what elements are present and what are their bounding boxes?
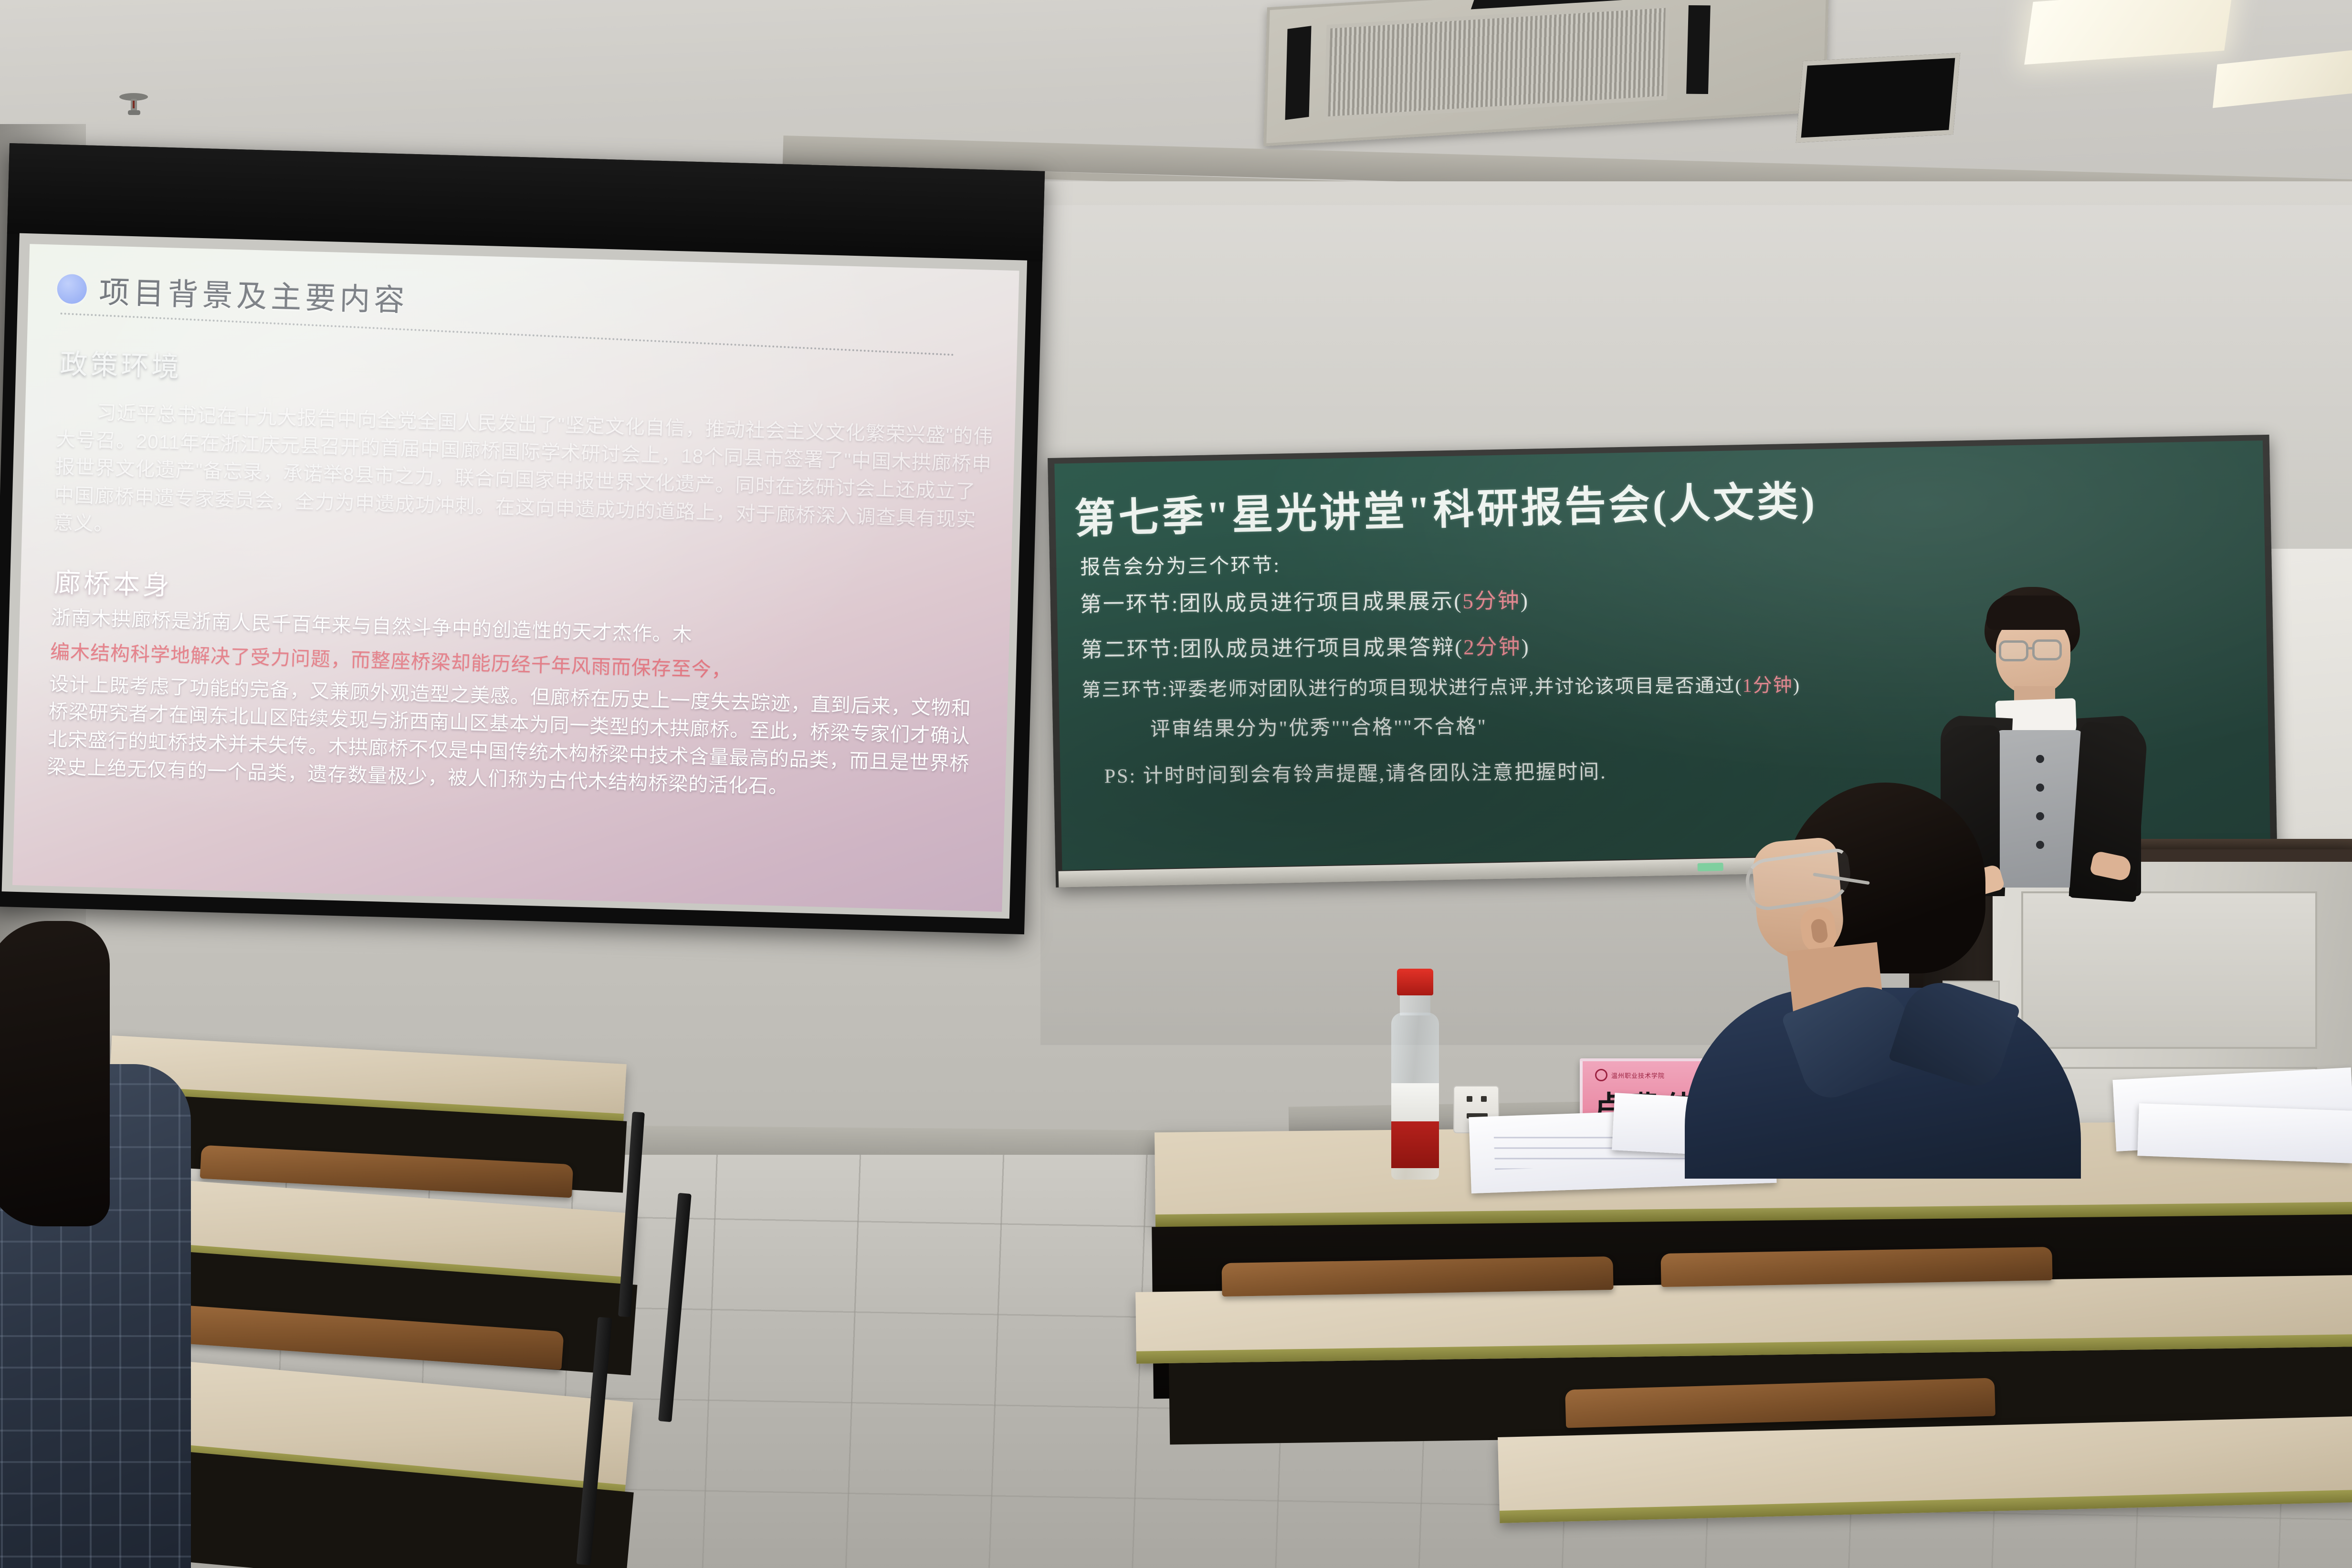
step-3-close: ) — [1793, 674, 1801, 696]
namecard-university: 温州职业技术学院 — [1611, 1071, 1665, 1080]
screen-border: 项目背景及主要内容 政策环境 习近平总书记在十九大报告中向全党全国人民发出了"坚… — [2, 233, 1028, 919]
step-2-duration: 2分钟 — [1463, 635, 1522, 659]
seated-judge-person — [1699, 783, 2062, 1145]
step-1-text: 第一环节:团队成员进行项目成果展示( — [1080, 589, 1463, 617]
ac-grille — [1324, 4, 1669, 121]
blackboard-step-1: 第一环节:团队成员进行项目成果展示(5分钟) — [1080, 583, 1530, 618]
presenter-glasses-bridge — [2028, 647, 2034, 649]
step-2-close: ) — [1522, 635, 1530, 659]
water-bottle — [1386, 969, 1443, 1179]
presenter-fringe — [1986, 596, 2078, 630]
slide-title: 项目背景及主要内容 — [99, 268, 409, 320]
step-3-text: 第三环节:评委老师对团队进行的项目现状进行点评,并讨论该项目是否通过( — [1081, 675, 1743, 701]
ac-vent-right — [1686, 5, 1711, 94]
step-1-duration: 5分钟 — [1462, 589, 1521, 613]
blackboard-grading-line: 评审结果分为"优秀""合格""不合格" — [1150, 710, 1487, 742]
step-2-text: 第二环节:团队成员进行项目成果答辩( — [1081, 635, 1464, 662]
ac-vent-left — [1285, 26, 1312, 120]
ac-vent-top — [1471, 0, 1717, 9]
presenter-vest-button-1 — [2036, 755, 2044, 763]
blackboard-intro-line: 报告会分为三个环节: — [1080, 549, 1281, 580]
slide-paragraph-1: 习近平总书记在十九大报告中向全党全国人民发出了"坚定文化自信，推动社会主义文化繁… — [53, 397, 996, 562]
slide-paragraph-2-rest: 设计上既考虑了功能的完备，又兼顾外观造型之美感。但廊桥在历史上一度失去踪迹，直到… — [47, 669, 989, 806]
bottle-neck — [1400, 994, 1430, 1015]
student-hair — [0, 921, 110, 1226]
blackboard-step-2: 第二环节:团队成员进行项目成果答辩(2分钟) — [1081, 629, 1530, 663]
fire-sprinkler-icon — [119, 93, 148, 120]
step-3-duration: 1分钟 — [1743, 674, 1793, 696]
podium-panel-upper — [2021, 891, 2317, 1049]
seated-student-left — [0, 921, 239, 1568]
step-1-close: ) — [1521, 589, 1529, 613]
classroom-scene: 项目背景及主要内容 政策环境 习近平总书记在十九大报告中向全党全国人民发出了"坚… — [0, 0, 2352, 1568]
blackboard-title: 第七季"星光讲堂"科研报告会(人文类) — [1074, 467, 1818, 545]
presenter-glasses-left — [1999, 640, 2028, 661]
folding-seat-2a — [1221, 1256, 1613, 1296]
ceiling-access-hole — [1796, 53, 1961, 143]
blackboard-step-3: 第三环节:评委老师对团队进行的项目现状进行点评,并讨论该项目是否通过(1分钟) — [1081, 669, 1800, 702]
blackboard-ps-line: PS: 计时时间到会有铃声提醒,请各团队注意把握时间. — [1104, 755, 1607, 789]
university-seal-icon — [1595, 1069, 1607, 1081]
folding-seat-2b — [1660, 1247, 2052, 1287]
bottle-label-white — [1391, 1083, 1439, 1122]
projection-screen-housing: 项目背景及主要内容 政策环境 习近平总书记在十九大报告中向全党全国人民发出了"坚… — [0, 143, 1045, 934]
blue-dot-bullet-icon — [57, 274, 87, 304]
bottle-label-red — [1391, 1121, 1439, 1168]
bottle-cap — [1397, 969, 1433, 995]
presenter-glasses-right — [2032, 639, 2062, 660]
judge-papers-right-2 — [2137, 1103, 2352, 1163]
projected-slide: 项目背景及主要内容 政策环境 习近平总书记在十九大报告中向全党全国人民发出了"坚… — [12, 244, 1019, 912]
